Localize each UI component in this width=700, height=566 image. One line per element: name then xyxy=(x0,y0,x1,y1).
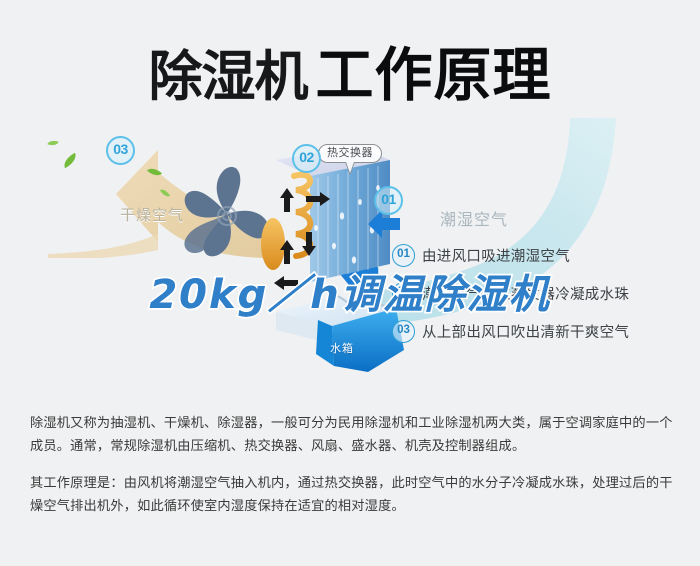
title-part-1: 除湿机 xyxy=(148,45,307,108)
callout-tail-icon xyxy=(345,162,355,175)
leaf-icon xyxy=(47,139,58,148)
paragraph-2: 其工作原理是：由风机将潮湿空气抽入机内，通过热交换器，此时空气中的水分子冷凝成水… xyxy=(30,472,675,518)
badge-ring-01: 01 xyxy=(374,186,403,215)
list-item: 03 从上部出风口吹出清新干爽空气 xyxy=(392,320,692,342)
diagram-badge-01: 01 xyxy=(374,186,403,215)
page-title: 除湿机工作原理 xyxy=(0,28,700,112)
diagram-badge-03: 03 xyxy=(106,136,135,165)
paragraph-1: 除湿机又称为抽湿机、干燥机、除湿器，一般可分为民用除湿机和工业除湿机两大类，属于… xyxy=(30,412,675,458)
title-part-2: 工作原理 xyxy=(315,43,551,108)
humid-air-label: 潮湿空气 xyxy=(440,206,508,230)
description-block: 除湿机又称为抽湿机、干燥机、除湿器，一般可分为民用除湿机和工业除湿机两大类，属于… xyxy=(30,412,675,532)
water-tank-label: 水箱 xyxy=(330,340,354,356)
step-number: 03 xyxy=(392,320,415,343)
diagram-badge-02: 02 xyxy=(292,144,321,173)
promo-overlay-text: 20kg／h调温除湿机 xyxy=(0,262,700,320)
heat-exchanger-callout: 热交换器 xyxy=(318,144,382,163)
badge-ring-02: 02 xyxy=(292,144,321,173)
step-text: 从上部出风口吹出清新干爽空气 xyxy=(422,321,629,342)
page-root: 除湿机工作原理 xyxy=(0,0,700,566)
badge-ring-03: 03 xyxy=(106,136,135,165)
